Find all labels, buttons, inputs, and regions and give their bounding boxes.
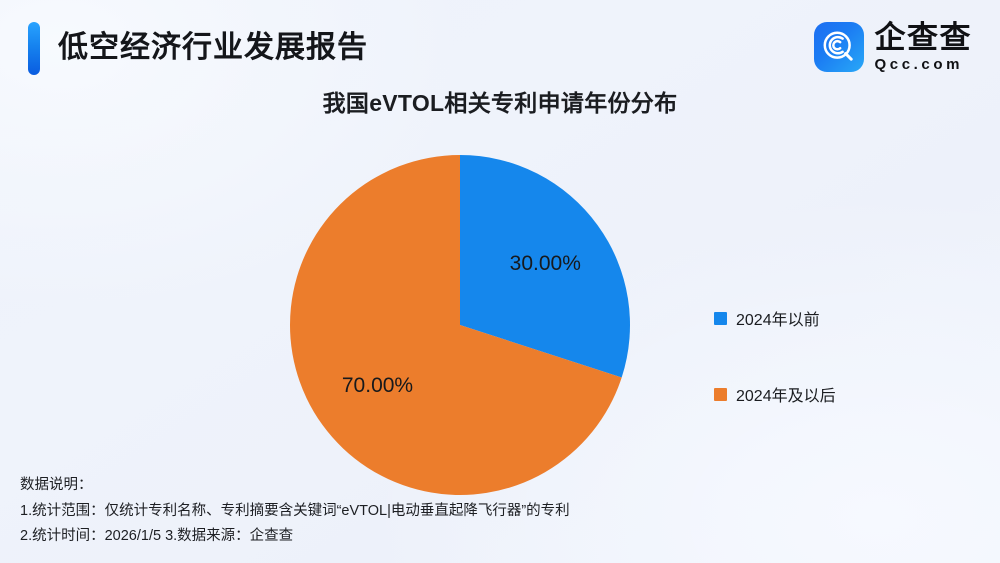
legend-swatch-icon-0: [714, 312, 727, 325]
legend-label-1: 2024年及以后: [736, 382, 836, 406]
pie-slice-0[interactable]: [460, 155, 630, 378]
pie-slice-label-0: 30.00%: [510, 252, 581, 275]
brand-name: 企查查: [875, 22, 973, 53]
notes-heading: 数据说明：: [20, 473, 720, 498]
page-header: 低空经济行业发展报告 企查查 Qcc.com: [0, 0, 1000, 92]
chart-legend: 2024年以前 2024年及以后: [714, 303, 964, 409]
brand-text: 企查查 Qcc.com: [875, 22, 973, 72]
legend-item-0[interactable]: 2024年以前: [714, 303, 964, 333]
pie-slices: [290, 155, 630, 495]
chart-title: 我国eVTOL相关专利申请年份分布: [0, 84, 1000, 118]
legend-swatch-icon-1: [714, 388, 727, 401]
pie-data-labels: 30.00%70.00%: [342, 252, 581, 397]
notes-line-2: 2.统计时间：2026/1/5 3.数据来源：企查查: [20, 524, 720, 549]
page-title: 低空经济行业发展报告: [58, 24, 368, 72]
notes-line-1: 1.统计范围：仅统计专利名称、专利摘要含关键词“eVTOL|电动垂直起降飞行器”…: [20, 499, 720, 524]
title-accent-bar: [28, 22, 40, 75]
qcc-logo-icon: [814, 22, 864, 72]
brand-logo: 企查查 Qcc.com: [814, 20, 973, 74]
pie-slice-1[interactable]: [290, 155, 622, 495]
brand-domain: Qcc.com: [875, 57, 973, 72]
legend-label-0: 2024年以前: [736, 306, 820, 330]
report-page: 低空经济行业发展报告 企查查 Qcc.com 我国eVTOL相关专利申请年份分布…: [0, 0, 1000, 563]
data-notes: 数据说明： 1.统计范围：仅统计专利名称、专利摘要含关键词“eVTOL|电动垂直…: [20, 473, 720, 549]
pie-slice-label-1: 70.00%: [342, 374, 413, 397]
legend-item-1[interactable]: 2024年及以后: [714, 379, 964, 409]
